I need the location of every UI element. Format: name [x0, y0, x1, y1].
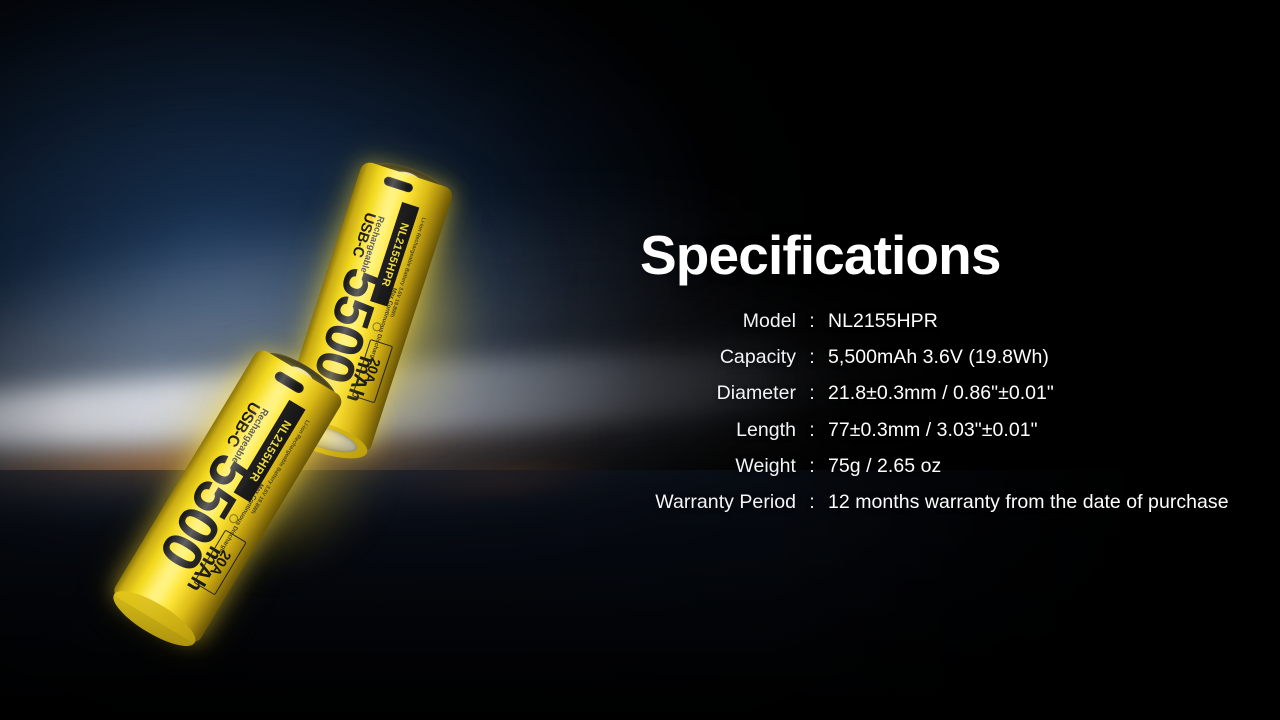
page-title: Specifications	[640, 228, 1001, 283]
spec-row: Capacity:5,500mAh 3.6V (19.8Wh)	[610, 346, 1210, 382]
battery-lower-usbc-port	[273, 370, 306, 395]
spec-value: 75g / 2.65 oz	[819, 455, 1210, 478]
spec-list: Model:NL2155HPRCapacity:5,500mAh 3.6V (1…	[610, 310, 1210, 527]
spec-value: 77±0.3mm / 3.03"±0.01"	[819, 419, 1210, 442]
product-spec-banner: NL2155HPR ⚡ USB-C Rechargeable 5500 mAh …	[0, 0, 1280, 720]
spec-value: 5,500mAh 3.6V (19.8Wh)	[819, 346, 1210, 369]
spec-label: Model	[610, 310, 805, 333]
spec-colon: :	[805, 346, 819, 369]
spec-value: 12 months warranty from the date of purc…	[819, 491, 1229, 514]
spec-value: 21.8±0.3mm / 0.86"±0.01"	[819, 382, 1210, 405]
spec-label: Length	[610, 419, 805, 442]
spec-colon: :	[805, 455, 819, 478]
spec-panel: Specifications Model:NL2155HPRCapacity:5…	[640, 0, 1280, 720]
spec-label: Capacity	[610, 346, 805, 369]
spec-label: Warranty Period	[610, 491, 805, 514]
spec-row: Diameter:21.8±0.3mm / 0.86"±0.01"	[610, 382, 1210, 418]
spec-row: Length:77±0.3mm / 3.03"±0.01"	[610, 419, 1210, 455]
battery-upper-usbc-port	[383, 176, 414, 194]
spec-row: Weight:75g / 2.65 oz	[610, 455, 1210, 491]
spec-colon: :	[805, 310, 819, 333]
spec-colon: :	[805, 382, 819, 405]
spec-label: Diameter	[610, 382, 805, 405]
spec-label: Weight	[610, 455, 805, 478]
spec-row: Warranty Period:12 months warranty from …	[610, 491, 1210, 527]
spec-colon: :	[805, 419, 819, 442]
spec-row: Model:NL2155HPR	[610, 310, 1210, 346]
spec-colon: :	[805, 491, 819, 514]
spec-value: NL2155HPR	[819, 310, 1210, 333]
